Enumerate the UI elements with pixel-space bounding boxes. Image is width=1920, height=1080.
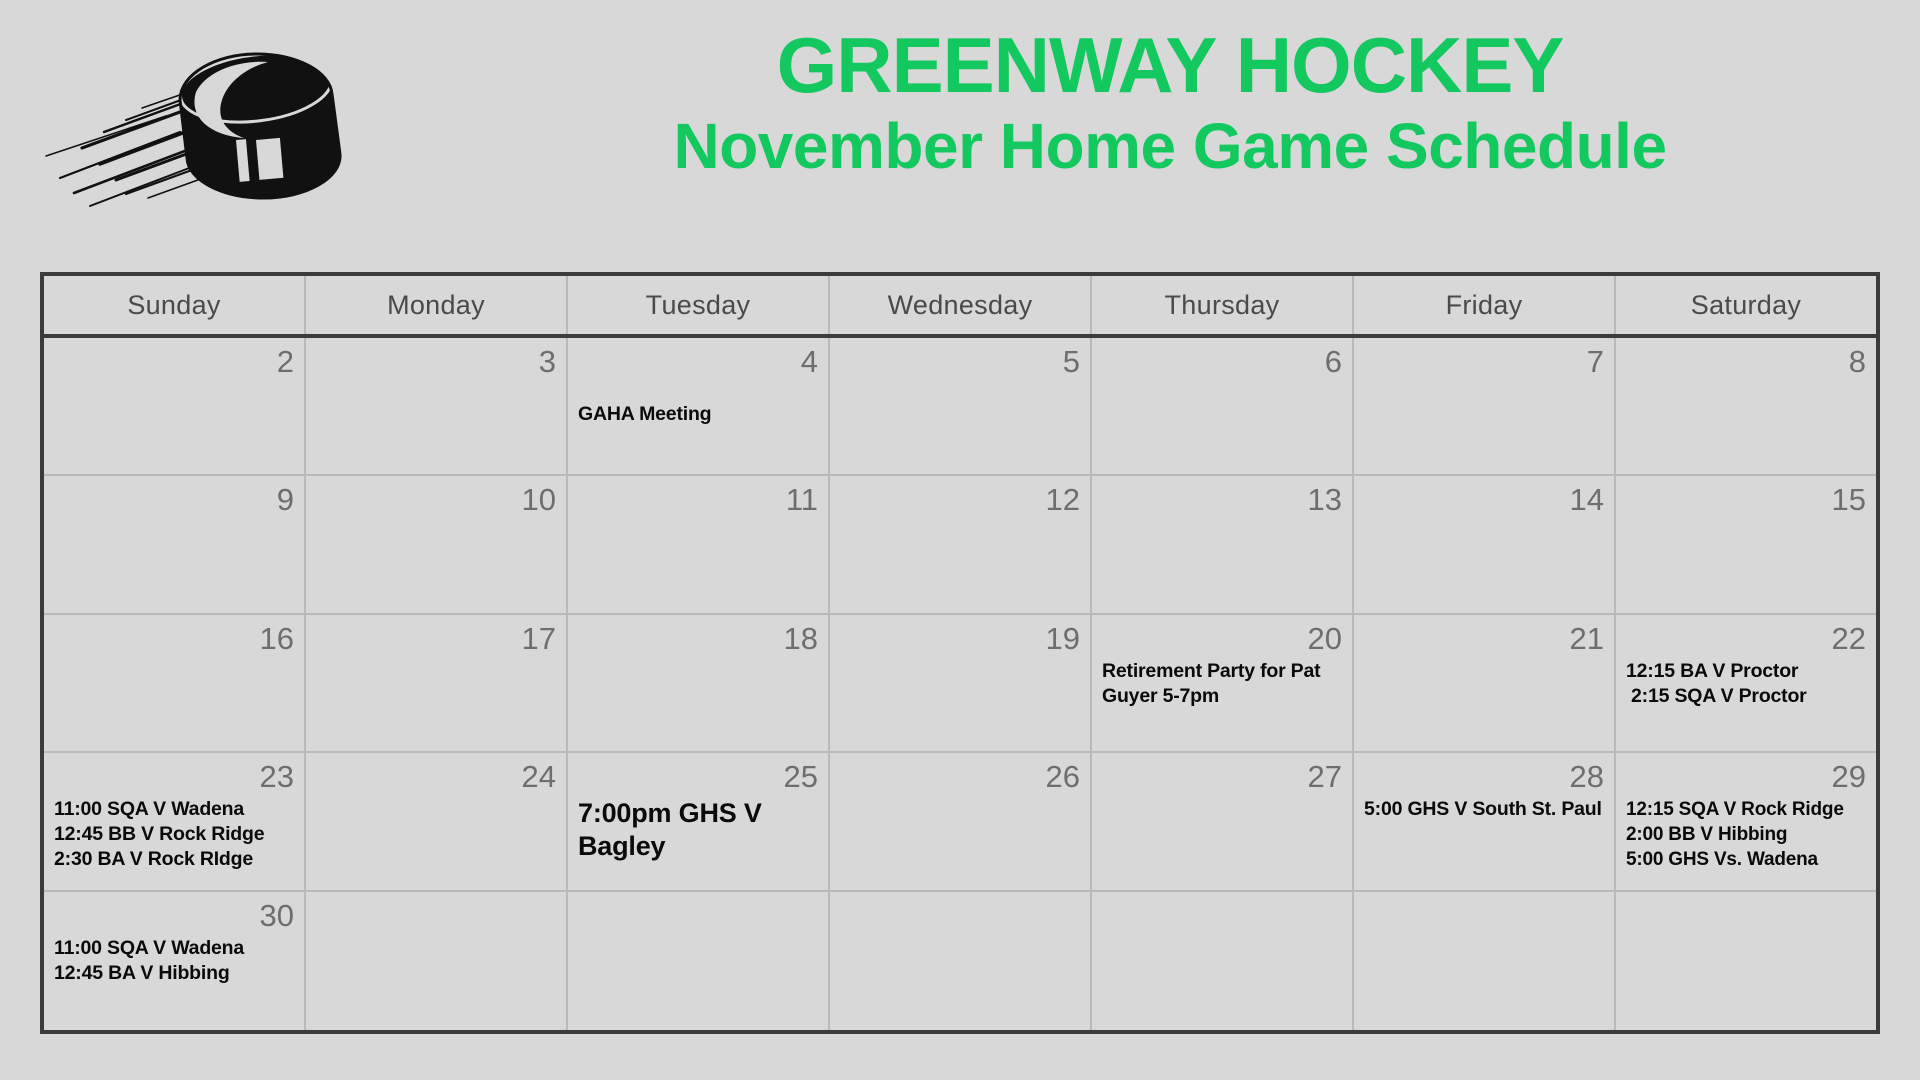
- day-cell[interactable]: 29 12:15 SQA V Rock Ridge 2:00 BB V Hibb…: [1616, 753, 1876, 889]
- day-number: 18: [578, 621, 818, 657]
- day-number: 13: [1102, 482, 1342, 518]
- day-number: 3: [316, 344, 556, 380]
- day-number: 27: [1102, 759, 1342, 795]
- day-cell[interactable]: 6: [1092, 338, 1354, 474]
- day-cell[interactable]: 20 Retirement Party for Pat Guyer 5-7pm: [1092, 615, 1354, 751]
- day-events: 11:00 SQA V Wadena 12:45 BA V Hibbing: [54, 936, 294, 986]
- event-item[interactable]: GAHA Meeting: [578, 402, 818, 427]
- event-item[interactable]: 2:15 SQA V Proctor: [1626, 684, 1866, 709]
- day-cell[interactable]: [1616, 892, 1876, 1030]
- page-title: GREENWAY HOCKEY: [520, 22, 1820, 108]
- event-item[interactable]: 2:30 BA V Rock RIdge: [54, 847, 294, 872]
- event-item[interactable]: Retirement Party for Pat Guyer 5-7pm: [1102, 659, 1342, 709]
- day-number: 24: [316, 759, 556, 795]
- weekday-header-tuesday: Tuesday: [568, 276, 830, 334]
- day-number: 10: [316, 482, 556, 518]
- event-item[interactable]: 12:15 BA V Proctor: [1626, 659, 1866, 684]
- day-number: 21: [1364, 621, 1604, 657]
- calendar-week-row: 30 11:00 SQA V Wadena 12:45 BA V Hibbing: [44, 892, 1876, 1030]
- calendar-week-row: 2 3 4 GAHA Meeting 5 6 7: [44, 338, 1876, 476]
- day-number: 2: [54, 344, 294, 380]
- weekday-header-thursday: Thursday: [1092, 276, 1354, 334]
- day-events: 7:00pm GHS V Bagley: [578, 797, 818, 863]
- day-cell[interactable]: 11: [568, 476, 830, 612]
- day-cell[interactable]: 14: [1354, 476, 1616, 612]
- day-number: 16: [54, 621, 294, 657]
- day-cell[interactable]: [1354, 892, 1616, 1030]
- day-cell[interactable]: 25 7:00pm GHS V Bagley: [568, 753, 830, 889]
- day-cell[interactable]: 26: [830, 753, 1092, 889]
- day-events: 12:15 BA V Proctor 2:15 SQA V Proctor: [1626, 659, 1866, 709]
- calendar-week-row: 16 17 18 19 20 Retirement Party for Pat …: [44, 615, 1876, 753]
- event-item[interactable]: 7:00pm GHS V Bagley: [578, 797, 818, 863]
- day-cell[interactable]: [830, 892, 1092, 1030]
- event-item[interactable]: 12:45 BB V Rock Ridge: [54, 822, 294, 847]
- weekday-header-row: Sunday Monday Tuesday Wednesday Thursday…: [44, 276, 1876, 338]
- event-item[interactable]: 2:00 BB V Hibbing: [1626, 822, 1866, 847]
- day-number: 28: [1364, 759, 1604, 795]
- day-cell[interactable]: [1092, 892, 1354, 1030]
- day-number: 29: [1626, 759, 1866, 795]
- day-number: 12: [840, 482, 1080, 518]
- day-cell[interactable]: 22 12:15 BA V Proctor 2:15 SQA V Proctor: [1616, 615, 1876, 751]
- day-events: 11:00 SQA V Wadena 12:45 BB V Rock Ridge…: [54, 797, 294, 872]
- day-events: GAHA Meeting: [578, 402, 818, 427]
- day-events: Retirement Party for Pat Guyer 5-7pm: [1102, 659, 1342, 709]
- day-number: 4: [578, 344, 818, 380]
- day-cell[interactable]: 18: [568, 615, 830, 751]
- day-number: 22: [1626, 621, 1866, 657]
- day-cell[interactable]: 7: [1354, 338, 1616, 474]
- day-number: 26: [840, 759, 1080, 795]
- day-cell[interactable]: 3: [306, 338, 568, 474]
- page-subtitle: November Home Game Schedule: [520, 108, 1820, 184]
- day-number: 30: [54, 898, 294, 934]
- weekday-header-friday: Friday: [1354, 276, 1616, 334]
- day-cell[interactable]: 23 11:00 SQA V Wadena 12:45 BB V Rock Ri…: [44, 753, 306, 889]
- day-cell[interactable]: 13: [1092, 476, 1354, 612]
- calendar-week-row: 9 10 11 12 13 14 15: [44, 476, 1876, 614]
- day-number: 9: [54, 482, 294, 518]
- page-header: GREENWAY HOCKEY November Home Game Sched…: [0, 0, 1920, 230]
- day-cell[interactable]: 5: [830, 338, 1092, 474]
- day-number: 17: [316, 621, 556, 657]
- day-number: 20: [1102, 621, 1342, 657]
- day-cell[interactable]: [568, 892, 830, 1030]
- day-events: 5:00 GHS V South St. Paul: [1364, 797, 1604, 822]
- day-number: 7: [1364, 344, 1604, 380]
- day-cell[interactable]: 28 5:00 GHS V South St. Paul: [1354, 753, 1616, 889]
- calendar-week-row: 23 11:00 SQA V Wadena 12:45 BB V Rock Ri…: [44, 753, 1876, 891]
- calendar-grid: Sunday Monday Tuesday Wednesday Thursday…: [40, 272, 1880, 1034]
- day-cell[interactable]: 4 GAHA Meeting: [568, 338, 830, 474]
- day-cell[interactable]: 8: [1616, 338, 1876, 474]
- day-cell[interactable]: 24: [306, 753, 568, 889]
- day-cell[interactable]: 16: [44, 615, 306, 751]
- event-item[interactable]: 12:15 SQA V Rock Ridge: [1626, 797, 1866, 822]
- calendar-page: GREENWAY HOCKEY November Home Game Sched…: [0, 0, 1920, 1080]
- day-number: 8: [1626, 344, 1866, 380]
- event-item[interactable]: 11:00 SQA V Wadena: [54, 936, 294, 961]
- event-item[interactable]: 5:00 GHS V South St. Paul: [1364, 797, 1604, 822]
- title-block: GREENWAY HOCKEY November Home Game Sched…: [520, 22, 1820, 184]
- hockey-puck-motion-icon: [30, 28, 390, 218]
- day-number: 25: [578, 759, 818, 795]
- day-cell[interactable]: 2: [44, 338, 306, 474]
- day-number: 6: [1102, 344, 1342, 380]
- event-item[interactable]: 11:00 SQA V Wadena: [54, 797, 294, 822]
- day-number: 19: [840, 621, 1080, 657]
- event-item[interactable]: 12:45 BA V Hibbing: [54, 961, 294, 986]
- day-cell[interactable]: 17: [306, 615, 568, 751]
- day-number: 14: [1364, 482, 1604, 518]
- day-cell[interactable]: 9: [44, 476, 306, 612]
- day-cell[interactable]: 30 11:00 SQA V Wadena 12:45 BA V Hibbing: [44, 892, 306, 1030]
- day-cell[interactable]: 10: [306, 476, 568, 612]
- weekday-header-saturday: Saturday: [1616, 276, 1876, 334]
- weekday-header-monday: Monday: [306, 276, 568, 334]
- day-cell[interactable]: 19: [830, 615, 1092, 751]
- day-cell[interactable]: [306, 892, 568, 1030]
- day-number: 11: [578, 482, 818, 518]
- event-item[interactable]: 5:00 GHS Vs. Wadena: [1626, 847, 1866, 872]
- day-events: 12:15 SQA V Rock Ridge 2:00 BB V Hibbing…: [1626, 797, 1866, 872]
- day-cell[interactable]: 12: [830, 476, 1092, 612]
- day-number: 23: [54, 759, 294, 795]
- day-cell[interactable]: 21: [1354, 615, 1616, 751]
- weekday-header-wednesday: Wednesday: [830, 276, 1092, 334]
- weekday-header-sunday: Sunday: [44, 276, 306, 334]
- day-number: 15: [1626, 482, 1866, 518]
- day-cell[interactable]: 15: [1616, 476, 1876, 612]
- day-number: 5: [840, 344, 1080, 380]
- calendar-weeks: 2 3 4 GAHA Meeting 5 6 7: [44, 338, 1876, 1030]
- day-cell[interactable]: 27: [1092, 753, 1354, 889]
